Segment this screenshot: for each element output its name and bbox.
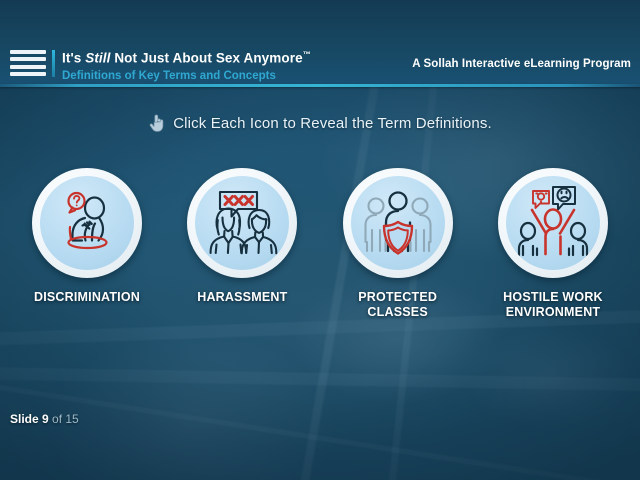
slide-stage: It's Still Not Just About Sex Anymore™ D… (0, 0, 640, 480)
page-title-post: Not Just About Sex Anymore (110, 51, 302, 66)
slide-counter-total: of 15 (49, 412, 79, 426)
term-circle-inner (351, 176, 445, 270)
page-title-italic: Still (85, 51, 110, 66)
term-item-discrimination[interactable]: DISCRIMINATION (26, 168, 148, 320)
term-circle-inner (195, 176, 289, 270)
page-title: It's Still Not Just About Sex Anymore™ (62, 47, 311, 67)
term-item-harassment[interactable]: HARASSMENT (181, 168, 303, 320)
slide-counter: Slide 9 of 15 (10, 412, 79, 426)
trademark-mark: ™ (303, 50, 311, 59)
header-accent-rule (0, 84, 640, 87)
seated-person-question-mark-icon (48, 184, 126, 262)
term-circle[interactable] (187, 168, 297, 278)
pointing-hand-icon (148, 113, 166, 133)
header-bar: It's Still Not Just About Sex Anymore™ D… (0, 0, 640, 86)
term-item-hostile-work-environment[interactable]: HOSTILE WORK ENVIRONMENT (492, 168, 614, 320)
term-circle[interactable] (32, 168, 142, 278)
term-label: DISCRIMINATION (34, 290, 140, 305)
term-label: HOSTILE WORK ENVIRONMENT (503, 290, 603, 320)
slide-counter-word: Slide (10, 412, 42, 426)
two-people-xxx-speech-bubble-icon (202, 184, 282, 262)
page-subtitle: Definitions of Key Terms and Concepts (62, 69, 311, 84)
header-titles: It's Still Not Just About Sex Anymore™ D… (62, 47, 311, 84)
term-label: HARASSMENT (197, 290, 287, 305)
page-title-pre: It's (62, 51, 85, 66)
term-circle[interactable] (343, 168, 453, 278)
term-icon-row: DISCRIMINATION (0, 168, 640, 320)
term-circle-inner (40, 176, 134, 270)
program-attribution: A Sollah Interactive eLearning Program (412, 58, 631, 70)
header-divider (52, 50, 55, 77)
term-circle[interactable] (498, 168, 608, 278)
slide-counter-number: 9 (42, 412, 49, 426)
term-label: PROTECTED CLASSES (337, 290, 459, 320)
term-item-protected-classes[interactable]: PROTECTED CLASSES (337, 168, 459, 320)
instruction-text: Click Each Icon to Reveal the Term Defin… (173, 115, 492, 132)
hamburger-menu-icon[interactable] (10, 50, 46, 76)
instruction-row: Click Each Icon to Reveal the Term Defin… (0, 113, 640, 133)
raised-arms-person-emoji-bubbles-icon (513, 184, 593, 262)
three-people-shield-icon (358, 184, 438, 262)
term-circle-inner (506, 176, 600, 270)
